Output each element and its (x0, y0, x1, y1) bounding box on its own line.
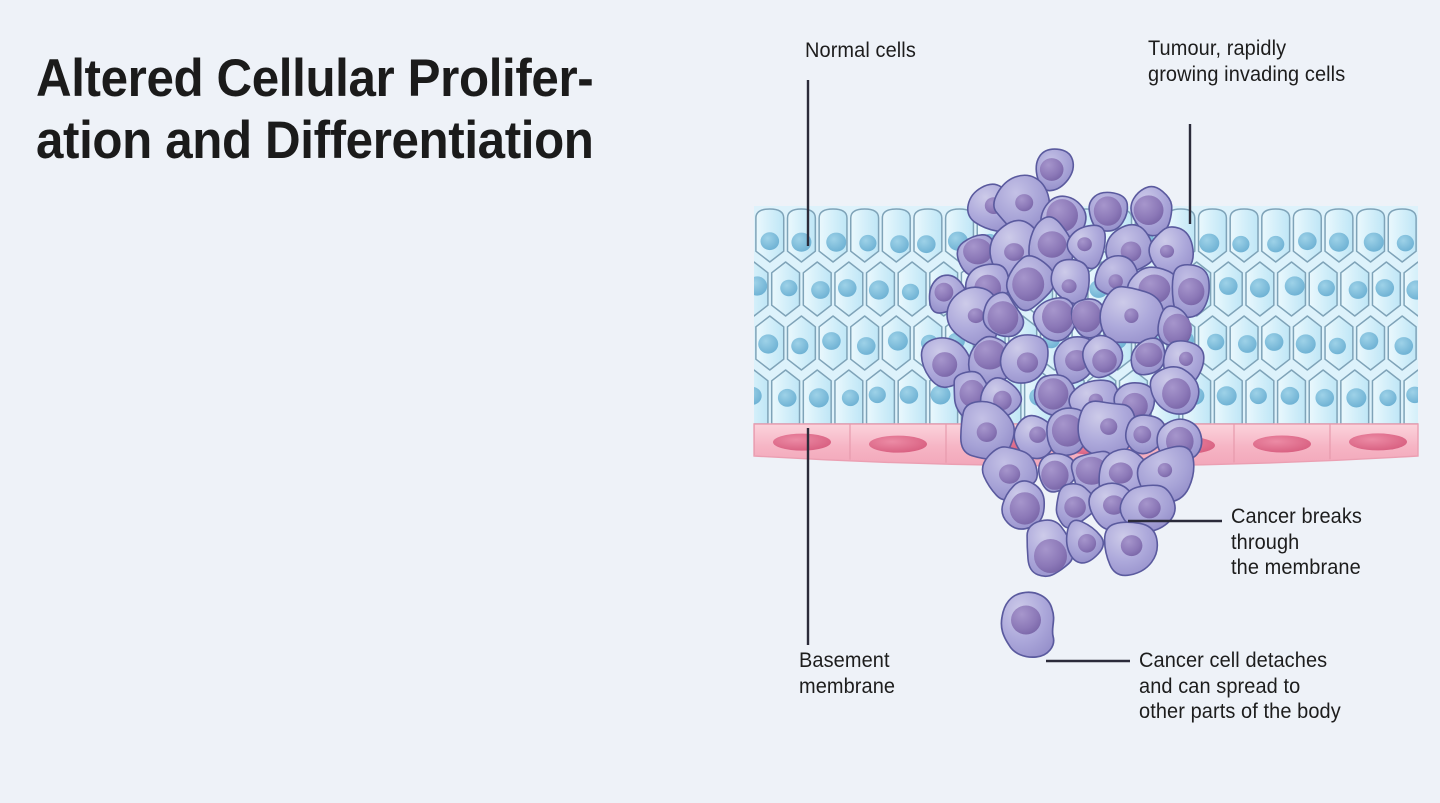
epithelial-cell-nucleus (1360, 332, 1379, 350)
epithelial-cell (1230, 209, 1258, 262)
epithelial-cell-nucleus (1364, 233, 1384, 252)
diagram-canvas: Altered Cellular Prolifer- ation and Dif… (0, 0, 1440, 803)
label-detach-line-1: Cancer cell detaches (1139, 648, 1341, 674)
tumour-cell-nucleus (1040, 158, 1064, 181)
epithelial-cell-nucleus (1315, 389, 1334, 407)
tumour-cell-nucleus (1138, 497, 1160, 518)
epithelial-cell-nucleus (1281, 387, 1300, 405)
tumour-cell-nucleus (1135, 343, 1162, 367)
epithelial-cell-nucleus (1199, 234, 1219, 253)
tumour-cell-nucleus (1062, 279, 1077, 293)
epithelial-cell-nucleus (791, 338, 808, 355)
tumour-cell-nucleus (1158, 463, 1172, 477)
epithelial-cell-nucleus (747, 276, 767, 295)
epithelial-cell-nucleus (758, 334, 778, 353)
epithelial-cell (724, 316, 752, 370)
epithelial-cell-nucleus (1397, 235, 1414, 252)
tumour-cell-nucleus (1078, 534, 1096, 553)
epithelial-cell (1262, 209, 1290, 262)
epithelial-cell-nucleus (1406, 387, 1423, 404)
tumour-cell-nucleus (1038, 378, 1068, 409)
label-cancer-cell-detaches: Cancer cell detaches and can spread to o… (1139, 648, 1341, 725)
epithelial-cell-nucleus (1219, 277, 1238, 295)
epithelial-cell-nucleus (1207, 334, 1224, 351)
epithelial-cell-nucleus (1428, 235, 1440, 253)
epithelial-cell-nucleus (857, 337, 876, 355)
tumour-cell-nucleus (1160, 245, 1174, 258)
label-detach-line-3: other parts of the body (1139, 699, 1341, 725)
epithelial-cell (1420, 209, 1440, 262)
label-basement-line-1: Basement (799, 648, 895, 674)
tumour-cell-nucleus (1015, 194, 1033, 211)
tumour-cell-nucleus (999, 464, 1020, 483)
epithelial-cell-nucleus (780, 280, 797, 297)
epithelial-cell-nucleus (1349, 281, 1368, 299)
epithelial-cell (1436, 370, 1440, 424)
tumour-cell-nucleus (1133, 426, 1151, 443)
label-normal-cells: Normal cells (805, 38, 916, 64)
epithelial-cell-nucleus (761, 232, 780, 250)
epithelial-cell (724, 209, 752, 262)
epithelial-cell-nucleus (1265, 333, 1284, 351)
tumour-cell-nucleus (1042, 300, 1074, 333)
tumour-cell-nucleus (1100, 418, 1117, 435)
tumour-cell-nucleus (1092, 349, 1117, 373)
epithelial-cell-nucleus (1346, 388, 1366, 407)
epithelial-cell-nucleus (1406, 280, 1426, 299)
epithelial-cell-nucleus (838, 279, 857, 297)
label-tumour-line-2: growing invading cells (1148, 62, 1345, 88)
tumour-cell-nucleus (1034, 539, 1067, 573)
epithelial-cell-nucleus (1238, 335, 1257, 353)
tumour-cell-nucleus (988, 301, 1019, 334)
epithelial-cell-nucleus (859, 235, 876, 252)
epithelial-cell-nucleus (902, 284, 919, 301)
epithelial-cell-nucleus (811, 281, 830, 299)
tumour-cell-nucleus (1029, 427, 1046, 443)
epithelial-cell-nucleus (809, 388, 829, 407)
epithelial-cell (1436, 262, 1440, 316)
epithelial-cell-nucleus (730, 236, 747, 253)
epithelial-cell-nucleus (1298, 232, 1317, 250)
epithelial-cell-nucleus (826, 233, 846, 252)
epithelial-cell (851, 209, 879, 262)
label-tumour-line-1: Tumour, rapidly (1148, 36, 1345, 62)
tumour-cell-nucleus (1072, 301, 1101, 333)
epithelial-cell-nucleus (1379, 390, 1396, 407)
epithelial-cell-nucleus (890, 235, 909, 253)
epithelial-cell-nucleus (869, 280, 889, 299)
label-tumour: Tumour, rapidly growing invading cells (1148, 36, 1345, 87)
tumour-cell-nucleus (1109, 462, 1133, 483)
label-cancer-breaks-through-membrane: Cancer breaks through the membrane (1231, 504, 1362, 581)
tumour-cell-nucleus (1162, 378, 1191, 409)
tumour-cell-nucleus (1134, 195, 1164, 225)
epithelial-cell-nucleus (842, 390, 859, 407)
label-breaks-line-3: the membrane (1231, 555, 1362, 581)
epithelial-cell-nucleus (1285, 276, 1305, 295)
tumour-cell-nucleus (1094, 196, 1122, 225)
detached-cancer-cell (1001, 592, 1053, 657)
epithelial-cell-nucleus (727, 333, 746, 351)
epithelial-cell-nucleus (917, 235, 936, 253)
epithelial-cell-nucleus (1394, 337, 1413, 355)
label-basement-line-2: membrane (799, 674, 895, 700)
tumour-cell-nucleus (1179, 352, 1193, 366)
epithelial-cell-nucleus (900, 386, 919, 404)
epithelial-cell (1420, 316, 1440, 370)
label-normal-cells-line-1: Normal cells (805, 38, 916, 64)
tumour-cell-nucleus (963, 238, 992, 264)
basement-membrane-nucleus (869, 436, 927, 453)
label-breaks-line-2: through (1231, 530, 1362, 556)
epithelial-cell-nucleus (1375, 279, 1394, 297)
epithelial-cell-nucleus (1329, 233, 1349, 252)
tumour-cell-nucleus (1064, 496, 1086, 517)
epithelial-cell-nucleus (1217, 386, 1237, 405)
label-basement-membrane: Basement membrane (799, 648, 895, 699)
tumour-cell-nucleus (977, 422, 997, 442)
basement-membrane-nucleus (1253, 435, 1311, 452)
tumour-cell-nucleus (1017, 352, 1038, 372)
epithelial-cell-nucleus (931, 385, 951, 404)
epithelial-cell-nucleus (743, 387, 762, 405)
tumour-cell-nucleus (932, 352, 957, 377)
basement-membrane-nucleus (1349, 433, 1407, 450)
tumour-cell-nucleus (1121, 535, 1143, 556)
tumour-cell-nucleus (1077, 237, 1092, 251)
epithelial-cell-nucleus (1425, 331, 1440, 350)
epithelial-cell-nucleus (888, 331, 908, 350)
tumour-cell-nucleus (935, 283, 954, 302)
tumour-cell-nucleus (968, 308, 984, 323)
epithelial-cell (882, 209, 910, 262)
epithelial-cell-nucleus (1250, 388, 1267, 405)
tumour-cell-nucleus (1124, 308, 1138, 323)
epithelial-cell (1388, 209, 1416, 262)
tumour-cell-nucleus (1010, 492, 1040, 524)
epithelial-cell-nucleus (1250, 278, 1270, 297)
label-detach-line-2: and can spread to (1139, 674, 1341, 700)
epithelial-cell-nucleus (1296, 334, 1316, 353)
epithelial-cell-nucleus (822, 332, 841, 350)
epithelial-cell-nucleus (869, 387, 886, 404)
epithelial-cell-nucleus (1232, 236, 1249, 253)
tumour-cell-nucleus (1038, 231, 1067, 257)
basement-membrane-nucleus (773, 434, 831, 451)
epithelial-cell-nucleus (1267, 236, 1284, 253)
tumour-cell-nucleus (1012, 267, 1044, 301)
epithelial-cell-nucleus (778, 389, 797, 407)
epithelial-cell-nucleus (1329, 338, 1346, 355)
tumour-cell-nucleus (1178, 278, 1204, 305)
label-breaks-line-1: Cancer breaks (1231, 504, 1362, 530)
epithelial-cell-nucleus (1318, 280, 1335, 297)
